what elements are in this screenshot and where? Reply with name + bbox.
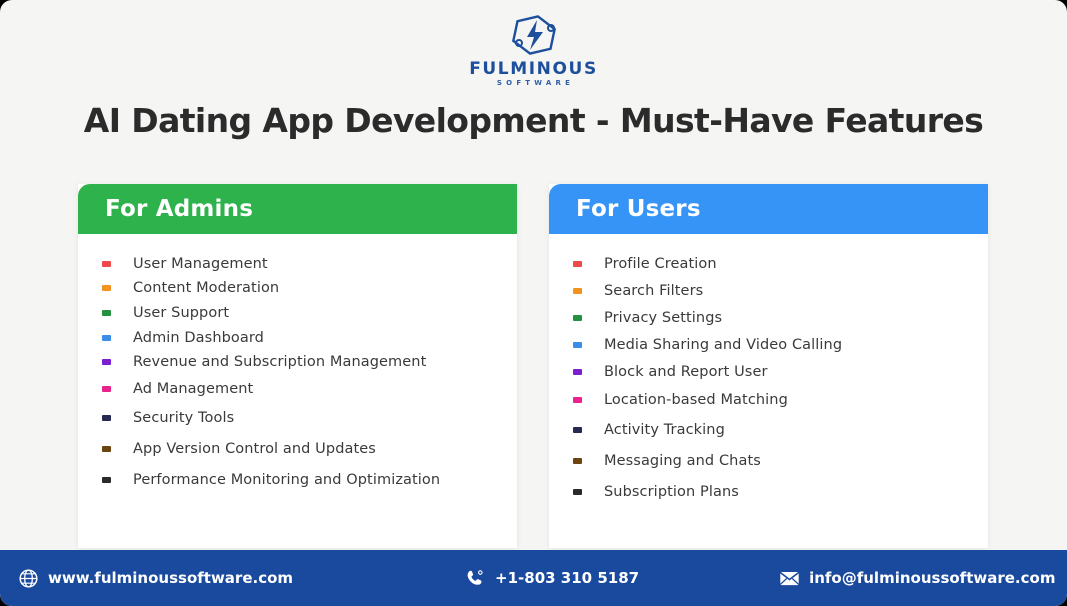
- feature-label: User Support: [133, 305, 229, 321]
- list-item: Location-based Matching: [573, 392, 978, 408]
- bullet-icon: [573, 288, 582, 294]
- feature-label: Subscription Plans: [604, 484, 739, 500]
- footer-email-text: info@fulminoussoftware.com: [809, 569, 1055, 587]
- feature-list-users: Profile Creation Search Filters Privacy …: [573, 256, 978, 500]
- list-item: Media Sharing and Video Calling: [573, 337, 978, 353]
- brand-subword: SOFTWARE: [493, 80, 574, 87]
- bullet-icon: [573, 261, 582, 267]
- feature-label: Block and Report User: [604, 364, 768, 380]
- list-item: Messaging and Chats: [573, 453, 978, 469]
- footer-phone[interactable]: +1-803 310 5187: [465, 568, 639, 589]
- feature-label: Privacy Settings: [604, 310, 722, 326]
- globe-icon: [18, 568, 39, 589]
- feature-label: Admin Dashboard: [133, 330, 264, 346]
- bullet-icon: [102, 261, 111, 267]
- list-item: Revenue and Subscription Management: [102, 354, 507, 370]
- list-item: User Management: [102, 256, 507, 272]
- footer-website-text: www.fulminoussoftware.com: [48, 569, 293, 587]
- brand-wordmark: FULMINOUS: [469, 61, 598, 78]
- list-item: Ad Management: [102, 381, 507, 397]
- list-item: Content Moderation: [102, 280, 507, 296]
- slide-canvas: FULMINOUS SOFTWARE AI Dating App Develop…: [0, 0, 1067, 606]
- list-item: Profile Creation: [573, 256, 978, 272]
- feature-label: Profile Creation: [604, 256, 717, 272]
- bullet-icon: [573, 342, 582, 348]
- bullet-icon: [573, 369, 582, 375]
- list-item: Block and Report User: [573, 364, 978, 380]
- card-body-admins: User Management Content Moderation User …: [78, 234, 517, 488]
- list-item: Performance Monitoring and Optimization: [102, 472, 507, 488]
- page-title: AI Dating App Development - Must-Have Fe…: [0, 101, 1067, 140]
- card-body-users: Profile Creation Search Filters Privacy …: [549, 234, 988, 500]
- footer-contact-bar: www.fulminoussoftware.com +1-803 310 518…: [0, 550, 1067, 606]
- footer-website[interactable]: www.fulminoussoftware.com: [18, 568, 293, 589]
- bullet-icon: [102, 415, 111, 421]
- bullet-icon: [102, 386, 111, 392]
- hexagon-bolt-logo-icon: [507, 12, 561, 58]
- feature-label: Location-based Matching: [604, 392, 788, 408]
- feature-label: App Version Control and Updates: [133, 441, 376, 457]
- list-item: Subscription Plans: [573, 484, 978, 500]
- envelope-icon: [779, 568, 800, 589]
- feature-label: User Management: [133, 256, 268, 272]
- bullet-icon: [102, 335, 111, 341]
- bullet-icon: [573, 315, 582, 321]
- feature-label: Performance Monitoring and Optimization: [133, 472, 440, 488]
- card-header-users: For Users: [549, 184, 988, 234]
- footer-email[interactable]: info@fulminoussoftware.com: [779, 568, 1055, 589]
- bullet-icon: [573, 458, 582, 464]
- feature-label: Revenue and Subscription Management: [133, 354, 426, 370]
- feature-list-admins: User Management Content Moderation User …: [102, 256, 507, 488]
- brand-logo: FULMINOUS SOFTWARE: [0, 12, 1067, 87]
- bullet-icon: [102, 477, 111, 483]
- feature-label: Messaging and Chats: [604, 453, 761, 469]
- bullet-icon: [573, 397, 582, 403]
- phone-icon: [465, 568, 486, 589]
- card-header-admins: For Admins: [78, 184, 517, 234]
- bullet-icon: [102, 285, 111, 291]
- bullet-icon: [573, 489, 582, 495]
- bullet-icon: [102, 359, 111, 365]
- feature-label: Content Moderation: [133, 280, 279, 296]
- list-item: Activity Tracking: [573, 422, 978, 438]
- list-item: Admin Dashboard: [102, 330, 507, 346]
- list-item: App Version Control and Updates: [102, 441, 507, 457]
- feature-label: Search Filters: [604, 283, 703, 299]
- feature-label: Media Sharing and Video Calling: [604, 337, 842, 353]
- bullet-icon: [102, 446, 111, 452]
- footer-phone-text: +1-803 310 5187: [495, 569, 639, 587]
- card-for-admins: For Admins User Management Content Moder…: [78, 184, 517, 548]
- list-item: Security Tools: [102, 410, 507, 426]
- feature-label: Ad Management: [133, 381, 253, 397]
- feature-label: Security Tools: [133, 410, 234, 426]
- bullet-icon: [102, 310, 111, 316]
- bullet-icon: [573, 427, 582, 433]
- list-item: Search Filters: [573, 283, 978, 299]
- list-item: Privacy Settings: [573, 310, 978, 326]
- feature-label: Activity Tracking: [604, 422, 725, 438]
- card-for-users: For Users Profile Creation Search Filter…: [549, 184, 988, 548]
- list-item: User Support: [102, 305, 507, 321]
